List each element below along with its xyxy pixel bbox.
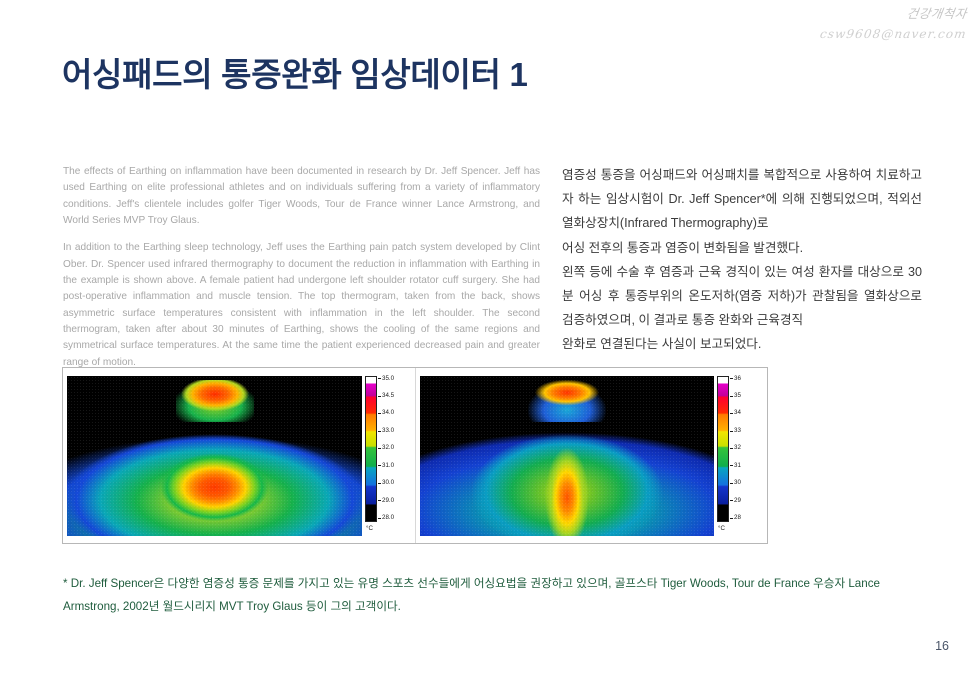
color-scale-bar <box>717 376 729 522</box>
footnote: * Dr. Jeff Spencer은 다양한 염증성 통증 문제를 가지고 있… <box>63 573 893 618</box>
scale-tick: 28 <box>730 515 741 521</box>
scale-tick: 34.5 <box>378 393 394 399</box>
scale-tick: 32 <box>730 445 741 451</box>
scale-tick: 30.0 <box>378 480 394 486</box>
scale-tick-labels: 35.0 34.5 34.0 33.0 32.0 31.0 30.0 29.0 … <box>378 376 394 522</box>
scale-tick: 35.0 <box>378 376 394 382</box>
scale-tick: 31.0 <box>378 463 394 469</box>
scale-tick: 34 <box>730 410 741 416</box>
scale-tick: 33 <box>730 428 741 434</box>
scale-tick: 29 <box>730 498 741 504</box>
scale-tick: 31 <box>730 463 741 469</box>
scale-unit-label: °C <box>718 525 725 532</box>
page-number: 16 <box>935 639 949 653</box>
english-text-block: The effects of Earthing on inflammation … <box>63 164 540 371</box>
scale-tick: 28.0 <box>378 515 394 521</box>
color-scale-bar <box>365 376 377 522</box>
thermogram-image-after <box>420 376 714 536</box>
korean-paragraph-3: 왼쪽 등에 수술 후 염증과 근육 경직이 있는 여성 환자를 대상으로 30분… <box>562 260 922 333</box>
thermogram-before-earthing: 35.0 34.5 34.0 33.0 32.0 31.0 30.0 29.0 … <box>63 368 415 543</box>
page-title: 어싱패드의 통증완화 임상데이터 1 <box>62 48 528 96</box>
thermogram-image-before <box>67 376 362 536</box>
thermogram-after-earthing: 36 35 34 33 32 31 30 29 28 °C <box>415 368 767 543</box>
scale-unit-label: °C <box>366 525 373 532</box>
korean-text-block: 염증성 통증을 어싱패드와 어싱패치를 복합적으로 사용하여 치료하고자 하는 … <box>562 163 922 356</box>
watermark: 건강개척자 csw9608@naver.com <box>820 6 967 42</box>
scale-tick: 29.0 <box>378 498 394 504</box>
temperature-scale-before: 35.0 34.5 34.0 33.0 32.0 31.0 30.0 29.0 … <box>365 376 411 536</box>
scale-tick-labels: 36 35 34 33 32 31 30 29 28 <box>730 376 741 522</box>
thermal-noise-overlay <box>420 376 714 536</box>
korean-paragraph-2: 어싱 전후의 통증과 염증이 변화됨을 발견했다. <box>562 236 922 260</box>
thermal-noise-overlay <box>67 376 362 536</box>
thermogram-figure-panel: 35.0 34.5 34.0 33.0 32.0 31.0 30.0 29.0 … <box>62 367 768 544</box>
scale-tick: 33.0 <box>378 428 394 434</box>
scale-tick: 36 <box>730 376 741 382</box>
korean-paragraph-4: 완화로 연결된다는 사실이 보고되었다. <box>562 332 922 356</box>
scale-tick: 32.0 <box>378 445 394 451</box>
english-paragraph-2: In addition to the Earthing sleep techno… <box>63 240 540 371</box>
scale-tick: 34.0 <box>378 410 394 416</box>
watermark-signature: 건강개척자 <box>819 6 968 23</box>
temperature-scale-after: 36 35 34 33 32 31 30 29 28 °C <box>717 376 763 536</box>
scale-tick: 35 <box>730 393 741 399</box>
watermark-email: csw9608@naver.com <box>819 26 968 42</box>
english-paragraph-1: The effects of Earthing on inflammation … <box>63 164 540 229</box>
korean-paragraph-1: 염증성 통증을 어싱패드와 어싱패치를 복합적으로 사용하여 치료하고자 하는 … <box>562 163 922 236</box>
scale-tick: 30 <box>730 480 741 486</box>
